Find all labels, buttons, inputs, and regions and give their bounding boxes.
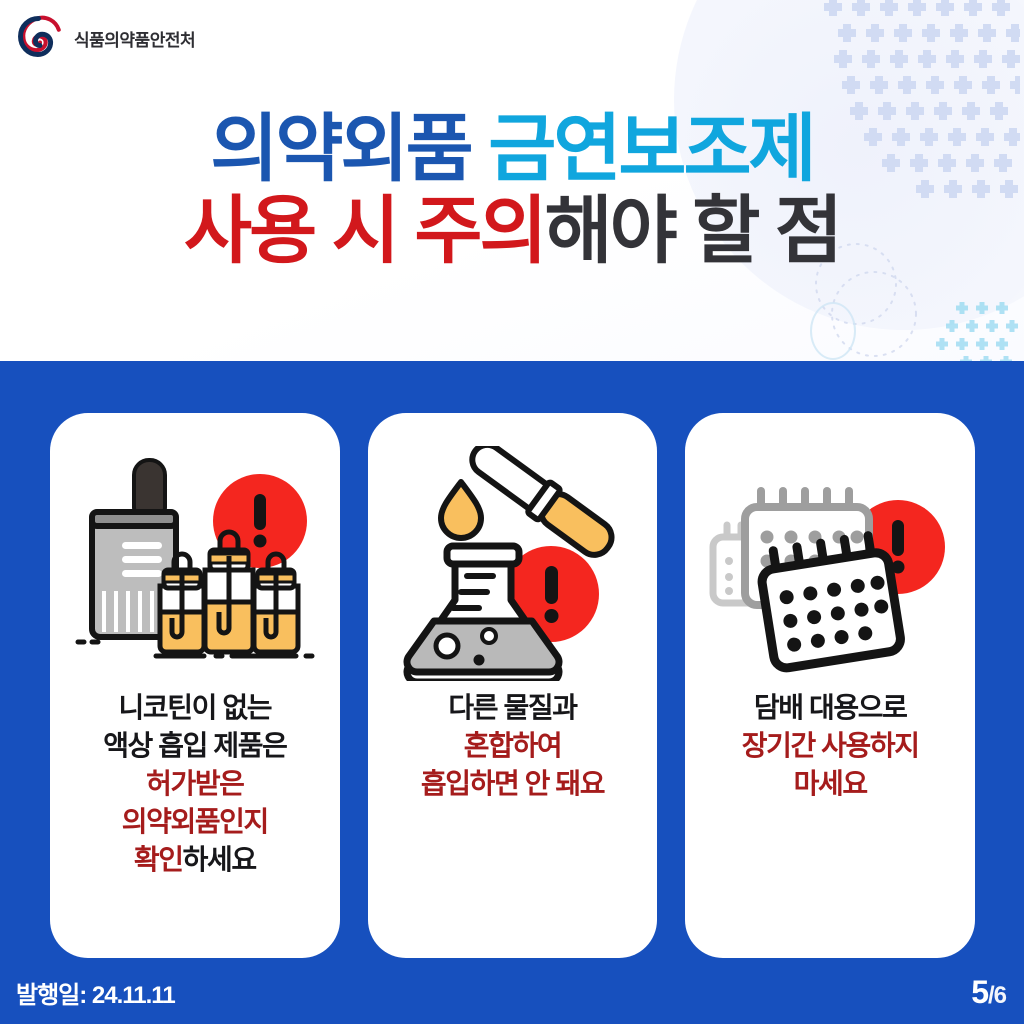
title-line-2: 사용 시 주의해야 할 점 bbox=[0, 194, 1024, 268]
infographic-poster: 식품의약품안전처 의약외품 금연보조제 사용 시 주의해야 할 점 bbox=[0, 0, 1024, 1024]
issue-date-label: 발행일: bbox=[16, 982, 86, 1009]
warning-card-1-text: 니코틴이 없는 액상 흡입 제품은 허가받은 의약외품인지 확인하세요 bbox=[93, 689, 296, 879]
card1-line-4: 의약외품인지 bbox=[103, 803, 286, 841]
card1-line-5-suffix: 하세요 bbox=[183, 844, 256, 875]
issue-date: 발행일: 24.11.11 bbox=[16, 975, 175, 1010]
card3-line-1: 담배 대용으로 bbox=[742, 689, 919, 727]
title-part-caution: 사용 시 주의 bbox=[184, 189, 545, 272]
card2-line-3: 흡입하면 안 돼요 bbox=[421, 765, 604, 803]
header-section: 식품의약품안전처 의약외품 금연보조제 사용 시 주의해야 할 점 bbox=[0, 0, 1024, 361]
card2-line-1: 다른 물질과 bbox=[421, 689, 604, 727]
card3-line-3: 마세요 bbox=[742, 765, 919, 803]
warning-card-1: 니코틴이 없는 액상 흡입 제품은 허가받은 의약외품인지 확인하세요 bbox=[50, 413, 340, 958]
decorative-ring-icon bbox=[810, 302, 856, 360]
card1-line-5: 확인하세요 bbox=[103, 841, 286, 879]
warning-card-2-text: 다른 물질과 혼합하여 흡입하면 안 돼요 bbox=[411, 689, 614, 803]
agency-logo: 식품의약품안전처 bbox=[16, 14, 195, 62]
card3-line-2: 장기간 사용하지 bbox=[742, 727, 919, 765]
page-current: 5 bbox=[971, 974, 988, 1011]
title-part-smoking-cessation-aid-text: 금연보조제 bbox=[488, 107, 813, 190]
title-part-points: 해야 할 점 bbox=[545, 189, 840, 272]
issue-date-value: 24.11.11 bbox=[92, 982, 175, 1009]
card1-line-1: 니코틴이 없는 bbox=[103, 689, 286, 727]
korea-government-taegeuk-logo-icon bbox=[16, 14, 64, 62]
agency-name-label: 식품의약품안전처 bbox=[74, 26, 195, 51]
page-total: /6 bbox=[988, 982, 1006, 1010]
footer-bar: 발행일: 24.11.11 5 /6 bbox=[0, 966, 1024, 1024]
liquid-drop bbox=[441, 482, 481, 538]
flask-and-dropper-warning-icon bbox=[388, 443, 638, 683]
poster-title: 의약외품 금연보조제 사용 시 주의해야 할 점 bbox=[0, 112, 1024, 268]
title-line-1: 의약외품 금연보조제 bbox=[0, 112, 1024, 186]
warning-card-3-text: 담배 대용으로 장기간 사용하지 마세요 bbox=[732, 689, 929, 803]
card2-line-2: 혼합하여 bbox=[421, 727, 604, 765]
card1-line-5-emphasis: 확인 bbox=[134, 844, 183, 875]
warning-card-3: 담배 대용으로 장기간 사용하지 마세요 bbox=[685, 413, 975, 958]
title-part-medicinal-external: 의약외품 bbox=[210, 107, 470, 190]
card1-line-2: 액상 흡입 제품은 bbox=[103, 727, 286, 765]
calendars-long-term-use-warning-icon bbox=[705, 443, 955, 683]
card1-line-3: 허가받은 bbox=[103, 765, 286, 803]
title-part-smoking-cessation-aid: 금연보조제 bbox=[488, 112, 813, 186]
vape-device-and-liquid-bottles-warning-icon bbox=[70, 443, 320, 683]
warning-card-list: 니코틴이 없는 액상 흡입 제품은 허가받은 의약외품인지 확인하세요 bbox=[50, 413, 975, 958]
page-indicator: 5 /6 bbox=[971, 974, 1006, 1011]
content-section: 니코틴이 없는 액상 흡입 제품은 허가받은 의약외품인지 확인하세요 bbox=[0, 361, 1024, 1024]
warning-card-2: 다른 물질과 혼합하여 흡입하면 안 돼요 bbox=[368, 413, 658, 958]
